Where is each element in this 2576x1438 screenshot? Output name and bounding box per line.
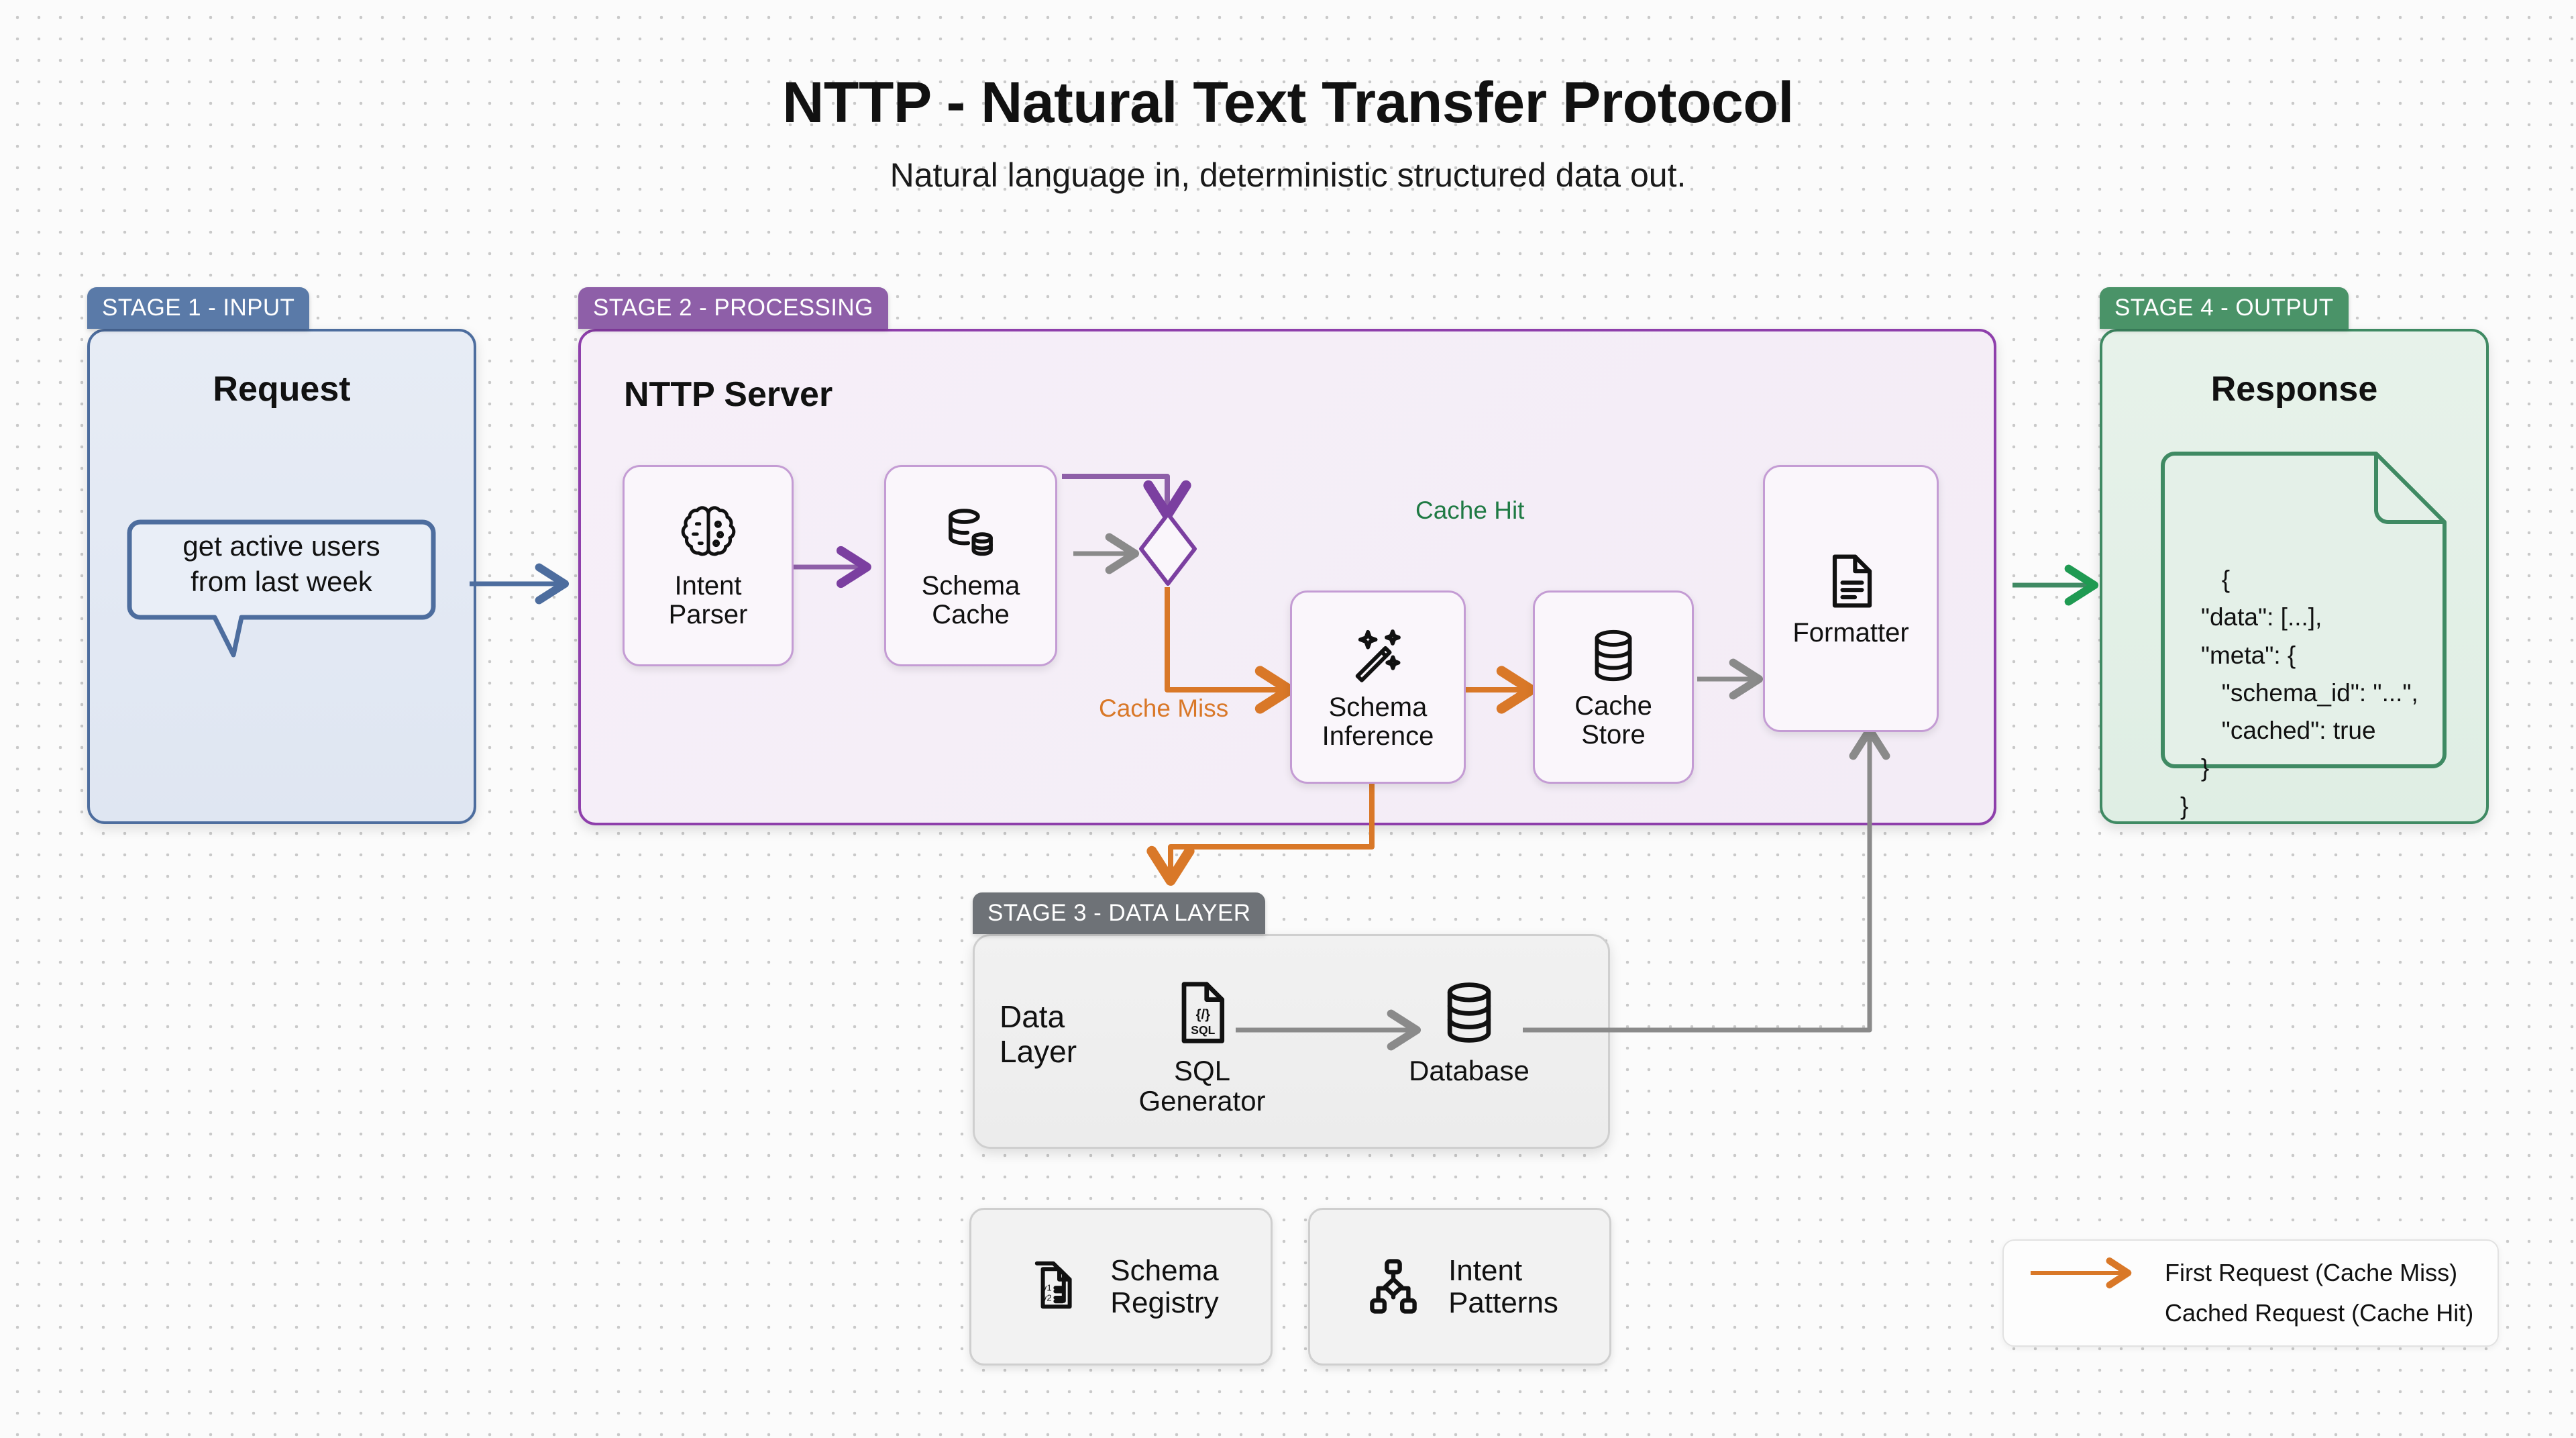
node-database-label: Database (1409, 1056, 1529, 1086)
legend-item-cache-miss: First Request (Cache Miss) (2027, 1259, 2475, 1287)
stage-2-panel-title: NTTP Server (624, 374, 833, 415)
svg-text:v2: v2 (1042, 1292, 1052, 1302)
database-stack-icon (938, 502, 1003, 566)
card-intent-patterns[interactable]: Intent Patterns (1308, 1208, 1611, 1366)
node-formatter[interactable]: Formatter (1763, 465, 1939, 732)
svg-text:{/}: {/} (1196, 1007, 1211, 1022)
legend-label-cache-hit: Cached Request (Cache Hit) (2165, 1299, 2473, 1327)
node-cache-store-label: Cache Store (1574, 692, 1652, 750)
schema-versions-icon: v1 v2 (1023, 1255, 1087, 1319)
node-formatter-label: Formatter (1792, 619, 1909, 648)
stage-1-tag: STAGE 1 - INPUT (87, 287, 309, 329)
flow-tree-icon (1361, 1255, 1426, 1319)
connector-cache-to-decision-purple (1062, 476, 1167, 513)
database-icon (1433, 976, 1505, 1049)
node-sql-generator-label: SQL Generator (1122, 1056, 1283, 1117)
node-schema-inference[interactable]: Schema Inference (1290, 590, 1466, 784)
legend-label-cache-miss: First Request (Cache Miss) (2165, 1259, 2457, 1287)
node-schema-cache[interactable]: Schema Cache (884, 465, 1057, 666)
node-database[interactable]: Database (1389, 976, 1550, 1121)
response-json-text: { "data": [...], "meta": { "schema_id": … (2180, 523, 2449, 863)
stage-1-tag-label: STAGE 1 - INPUT (102, 295, 294, 321)
connector-cache-miss (1167, 587, 1288, 690)
node-intent-parser-label: Intent Parser (669, 572, 748, 629)
legend-arrow-green-icon (2027, 1302, 2147, 1325)
card-schema-registry-label: Schema Registry (1110, 1255, 1218, 1319)
stage-4-panel-title: Response (2100, 369, 2489, 409)
stage-3-tag-label: STAGE 3 - DATA LAYER (987, 900, 1250, 927)
stage-3-panel-title: Data Layer (1000, 1000, 1077, 1069)
svg-text:v1: v1 (1042, 1282, 1052, 1292)
brain-icon (676, 502, 741, 566)
diagram-canvas: NTTP - Natural Text Transfer Protocol Na… (0, 0, 2576, 1438)
legend-arrow-orange-icon (2027, 1262, 2147, 1284)
stage-3-tag: STAGE 3 - DATA LAYER (973, 892, 1265, 934)
stage-2-tag: STAGE 2 - PROCESSING (578, 287, 888, 329)
database-icon (1582, 625, 1644, 686)
card-schema-registry[interactable]: v1 v2 Schema Registry (969, 1208, 1273, 1366)
card-intent-patterns-label: Intent Patterns (1448, 1255, 1558, 1319)
stage-1-panel-title: Request (87, 369, 476, 409)
diamond-decision-icon[interactable] (1137, 510, 1199, 588)
stage-2-tag-label: STAGE 2 - PROCESSING (593, 295, 873, 321)
svg-text:SQL: SQL (1191, 1023, 1215, 1037)
cache-hit-label: Cache Hit (1415, 497, 1524, 525)
node-schema-cache-label: Schema Cache (922, 572, 1020, 629)
cache-miss-label: Cache Miss (1099, 695, 1228, 723)
request-bubble: get active users from last week (129, 511, 433, 617)
legend-item-cache-hit: Cached Request (Cache Hit) (2027, 1299, 2475, 1327)
document-lines-icon (1819, 549, 1883, 613)
legend: First Request (Cache Miss) Cached Reques… (2002, 1239, 2499, 1347)
request-bubble-text: get active users from last week (129, 529, 433, 599)
node-intent-parser[interactable]: Intent Parser (623, 465, 794, 666)
connector-inference-to-datalayer (1171, 782, 1372, 879)
sql-file-icon: {/} SQL (1166, 976, 1238, 1049)
node-sql-generator[interactable]: {/} SQL SQL Generator (1122, 976, 1283, 1121)
stage-4-tag: STAGE 4 - OUTPUT (2100, 287, 2349, 329)
stage-4-tag-label: STAGE 4 - OUTPUT (2114, 295, 2334, 321)
magic-wand-icon (1346, 623, 1410, 688)
node-schema-inference-label: Schema Inference (1322, 693, 1434, 751)
response-json-card: { "data": [...], "meta": { "schema_id": … (2152, 443, 2455, 778)
node-cache-store[interactable]: Cache Store (1533, 590, 1694, 784)
